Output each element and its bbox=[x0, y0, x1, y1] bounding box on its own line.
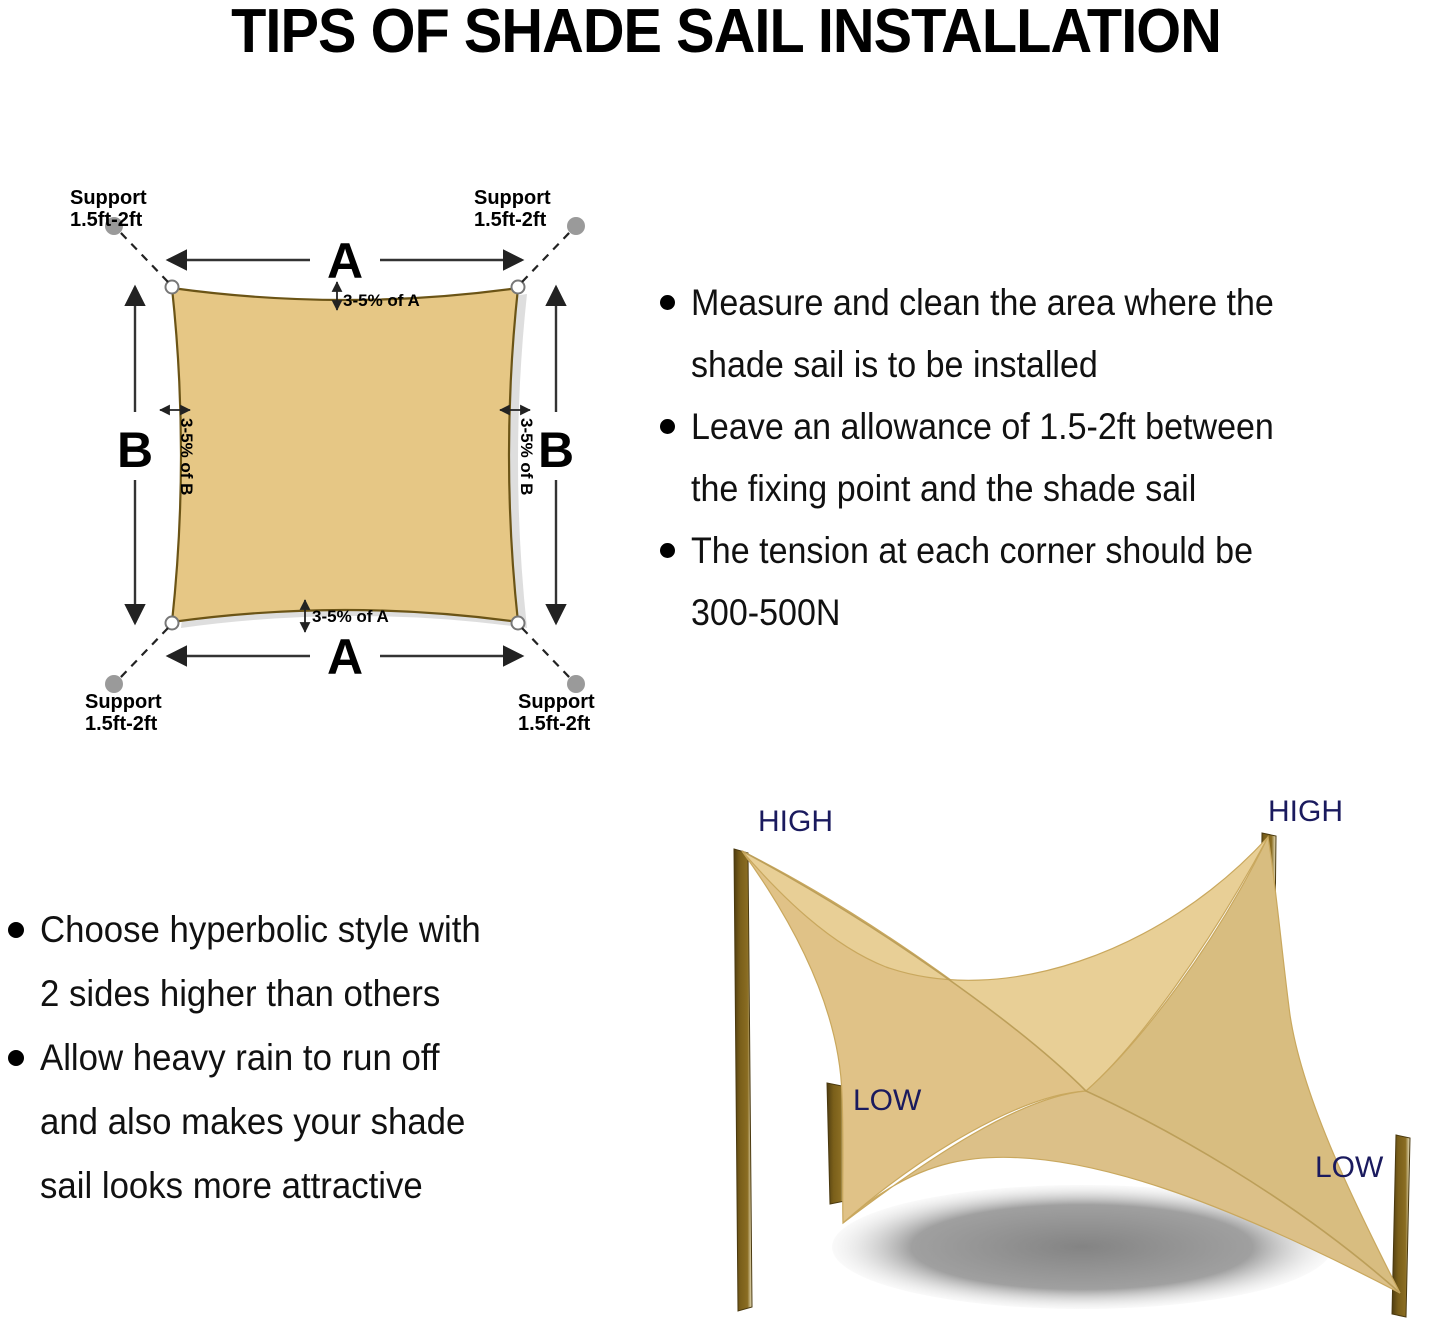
dimension-a-bottom: A bbox=[168, 629, 522, 685]
list-item-continuation: and also makes your shade bbox=[8, 1090, 628, 1154]
list-item-label: and also makes your shade bbox=[40, 1090, 465, 1154]
square-sail-diagram: Support 1.5ft-2ft Support 1.5ft-2ft Supp… bbox=[40, 160, 650, 740]
bullet-dot-icon bbox=[660, 543, 675, 558]
support-label-line2: 1.5ft-2ft bbox=[85, 713, 158, 735]
bullet-dot-icon bbox=[8, 922, 24, 938]
curvature-label-a-bottom: 3-5% of A bbox=[312, 607, 389, 626]
list-item: Leave an allowance of 1.5-2ft between bbox=[660, 396, 1452, 458]
dimension-label-b-right: B bbox=[538, 422, 574, 478]
label-low-left: LOW bbox=[853, 1084, 922, 1117]
list-item-label: Leave an allowance of 1.5-2ft between bbox=[691, 396, 1274, 458]
support-label-line2: 1.5ft-2ft bbox=[518, 713, 591, 735]
tips-list-right: Measure and clean the area where the sha… bbox=[660, 272, 1452, 644]
support-label-line2: 1.5ft-2ft bbox=[474, 209, 547, 231]
sail-shape bbox=[172, 288, 518, 622]
tips-list-left: Choose hyperbolic style with 2 sides hig… bbox=[8, 898, 628, 1218]
dimension-a-top: A bbox=[168, 233, 522, 289]
curvature-label-b-right: 3-5% of B bbox=[517, 418, 536, 495]
support-label-bottom-right: Support 1.5ft-2ft bbox=[518, 691, 595, 735]
curvature-b-left: 3-5% of B bbox=[160, 410, 196, 495]
list-item-label: sail looks more attractive bbox=[40, 1154, 423, 1218]
curvature-label-a-top: 3-5% of A bbox=[343, 291, 420, 310]
dimension-label-a-bottom: A bbox=[327, 629, 363, 685]
support-label-line1: Support bbox=[85, 691, 162, 713]
list-item-continuation: sail looks more attractive bbox=[8, 1154, 628, 1218]
label-high-right: HIGH bbox=[1268, 795, 1343, 828]
label-low-right: LOW bbox=[1315, 1151, 1384, 1184]
dimension-b-left: B bbox=[117, 287, 153, 623]
support-label-line1: Support bbox=[518, 691, 595, 713]
support-dot-top-right bbox=[567, 217, 585, 235]
dimension-b-right: B bbox=[538, 287, 574, 623]
support-label-top-left: Support 1.5ft-2ft bbox=[70, 187, 147, 231]
bullet-dot-icon bbox=[8, 1050, 24, 1066]
list-item-label: shade sail is to be installed bbox=[691, 334, 1098, 396]
list-item: Choose hyperbolic style with bbox=[8, 898, 628, 962]
list-item-label: 300-500N bbox=[691, 582, 841, 644]
bullet-dot-icon bbox=[660, 419, 675, 434]
support-label-line1: Support bbox=[70, 187, 147, 209]
list-item-continuation: 300-500N bbox=[660, 582, 1452, 644]
list-item-continuation: 2 sides higher than others bbox=[8, 962, 628, 1026]
support-label-top-right: Support 1.5ft-2ft bbox=[474, 187, 551, 231]
dimension-label-a-top: A bbox=[327, 233, 363, 289]
list-item-label: Measure and clean the area where the bbox=[691, 272, 1274, 334]
dimension-label-b-left: B bbox=[117, 422, 153, 478]
list-item-label: Choose hyperbolic style with bbox=[40, 898, 481, 962]
label-high-left: HIGH bbox=[758, 805, 833, 838]
support-line-bottom-right bbox=[522, 628, 585, 693]
list-item: Measure and clean the area where the bbox=[660, 272, 1452, 334]
list-item-continuation: the fixing point and the shade sail bbox=[660, 458, 1452, 520]
list-item-label: Allow heavy rain to run off bbox=[40, 1026, 440, 1090]
list-item-label: the fixing point and the shade sail bbox=[691, 458, 1196, 520]
page-root: TIPS OF SHADE SAIL INSTALLATION bbox=[0, 0, 1452, 1325]
bullet-dot-icon bbox=[660, 295, 675, 310]
pole-high-left bbox=[734, 849, 752, 1311]
list-item-label: 2 sides higher than others bbox=[40, 962, 440, 1026]
hyperbolic-sail-diagram: HIGH HIGH LOW LOW bbox=[690, 795, 1452, 1325]
list-item: Allow heavy rain to run off bbox=[8, 1026, 628, 1090]
support-line-bottom-left bbox=[105, 628, 168, 693]
list-item: The tension at each corner should be bbox=[660, 520, 1452, 582]
support-label-line2: 1.5ft-2ft bbox=[70, 209, 143, 231]
list-item-label: The tension at each corner should be bbox=[691, 520, 1253, 582]
support-label-line1: Support bbox=[474, 187, 551, 209]
curvature-label-b-left: 3-5% of B bbox=[177, 418, 196, 495]
list-item-continuation: shade sail is to be installed bbox=[660, 334, 1452, 396]
page-title: TIPS OF SHADE SAIL INSTALLATION bbox=[51, 0, 1401, 64]
support-label-bottom-left: Support 1.5ft-2ft bbox=[85, 691, 162, 735]
